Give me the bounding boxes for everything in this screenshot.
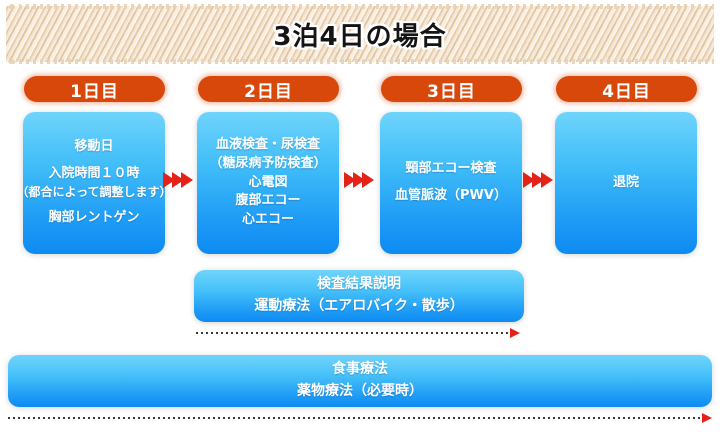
exercise-therapy-bar: 検査結果説明 運動療法（エアロバイク・散歩）: [194, 270, 524, 322]
day-2-line-3: 心電図: [248, 174, 287, 193]
dotted-arrow-middle: [196, 328, 520, 338]
title-banner: 3泊4日の場合: [6, 6, 714, 62]
day-1-line-4: 胸部レントゲン: [48, 209, 139, 228]
day-4-line-1: 退院: [613, 174, 639, 193]
diet-therapy-line-1: 食事療法: [332, 359, 388, 381]
day-pill-2: 2日目: [198, 76, 339, 102]
day-box-1: 移動日 入院時間１０時 （都合によって調整します） 胸部レントゲン: [23, 112, 165, 254]
day-1-line-2: 入院時間１０時: [48, 165, 139, 184]
medication-therapy-line-2: 薬物療法（必要時）: [297, 381, 423, 403]
exercise-therapy-line-1: 検査結果説明: [317, 274, 401, 296]
day-2-line-5: 心エコー: [242, 211, 294, 230]
page-title: 3泊4日の場合: [6, 6, 714, 62]
day-box-4: 退院: [555, 112, 697, 254]
chevron-arrow-day1-day2: [163, 172, 197, 188]
day-pill-1: 1日目: [24, 76, 165, 102]
exercise-therapy-line-2: 運動療法（エアロバイク・散歩）: [254, 296, 463, 318]
day-2-line-2: （糖尿病予防検査）: [209, 155, 326, 174]
arrowhead-icon: [510, 328, 520, 338]
dotted-line: [196, 332, 511, 334]
day-3-line-2: 血管脈波（PWV）: [395, 187, 507, 206]
day-3-line-1: 頸部エコー検査: [405, 160, 496, 179]
day-box-2: 血液検査・尿検査 （糖尿病予防検査） 心電図 腹部エコー 心エコー: [197, 112, 339, 254]
chevron-arrow-day3-day4: [523, 172, 557, 188]
day-pill-4: 4日目: [556, 76, 697, 102]
chevron-arrow-day2-day3: [344, 172, 378, 188]
dotted-line: [8, 417, 703, 419]
arrowhead-icon: [702, 413, 712, 423]
day-1-line-1: 移動日: [74, 138, 113, 157]
day-pill-3: 3日目: [381, 76, 522, 102]
diet-medication-bar: 食事療法 薬物療法（必要時）: [8, 355, 712, 407]
day-1-line-3: （都合によって調整します）: [16, 184, 171, 201]
day-box-3: 頸部エコー検査 血管脈波（PWV）: [380, 112, 522, 254]
dotted-arrow-bottom: [8, 413, 712, 423]
day-2-line-4: 腹部エコー: [235, 192, 300, 211]
day-2-line-1: 血液検査・尿検査: [216, 136, 320, 155]
